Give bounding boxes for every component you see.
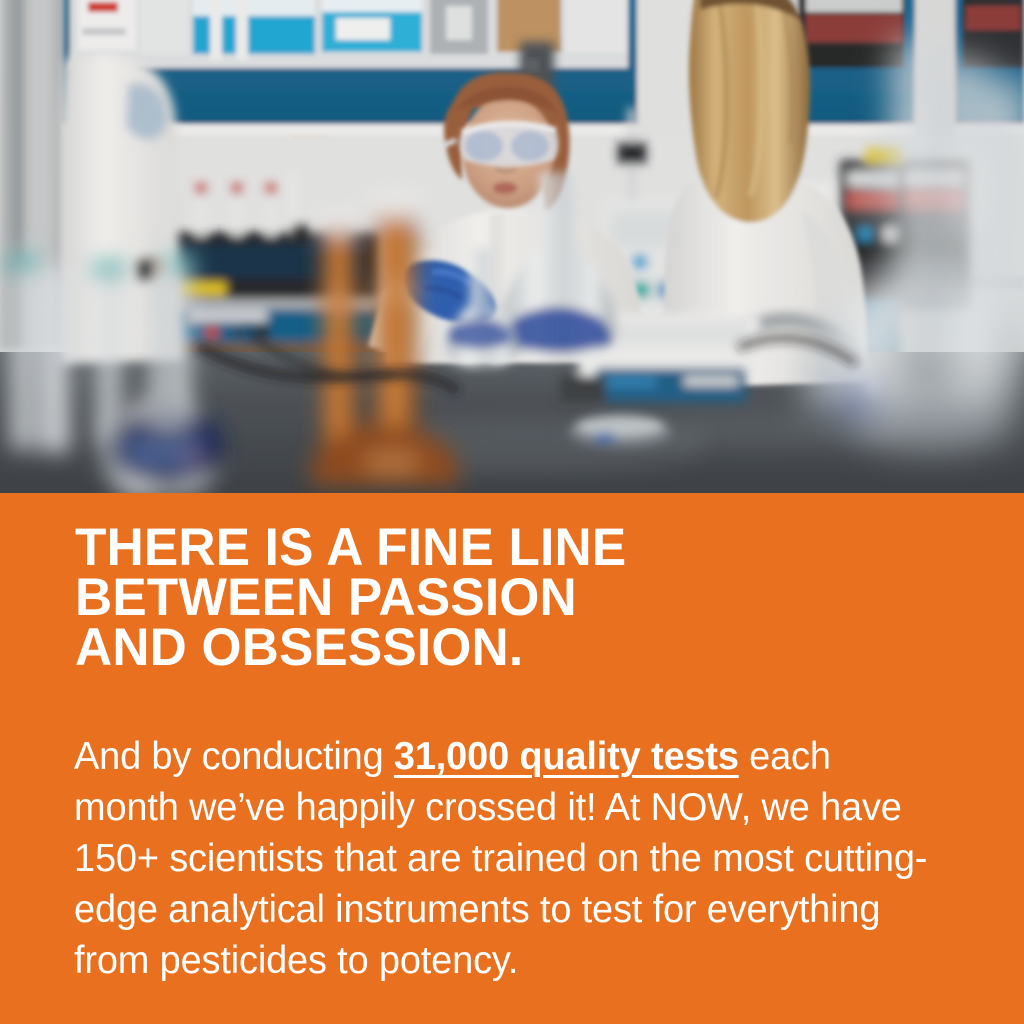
poster-root: 500 (0, 0, 1024, 1024)
body-copy-emphasis: 31,000 quality tests (394, 735, 739, 778)
lab-photo-illustration: 500 (0, 0, 1024, 493)
page-headline: THERE IS A FINE LINE BETWEEN PASSION AND… (75, 523, 948, 673)
photo-color-grade (0, 0, 1024, 493)
body-copy: And by conducting 31,000 quality tests e… (74, 731, 933, 986)
orange-message-panel: THERE IS A FINE LINE BETWEEN PASSION AND… (0, 493, 1024, 1024)
lab-photo: 500 (0, 0, 1024, 493)
body-copy-before: And by conducting (74, 735, 394, 778)
